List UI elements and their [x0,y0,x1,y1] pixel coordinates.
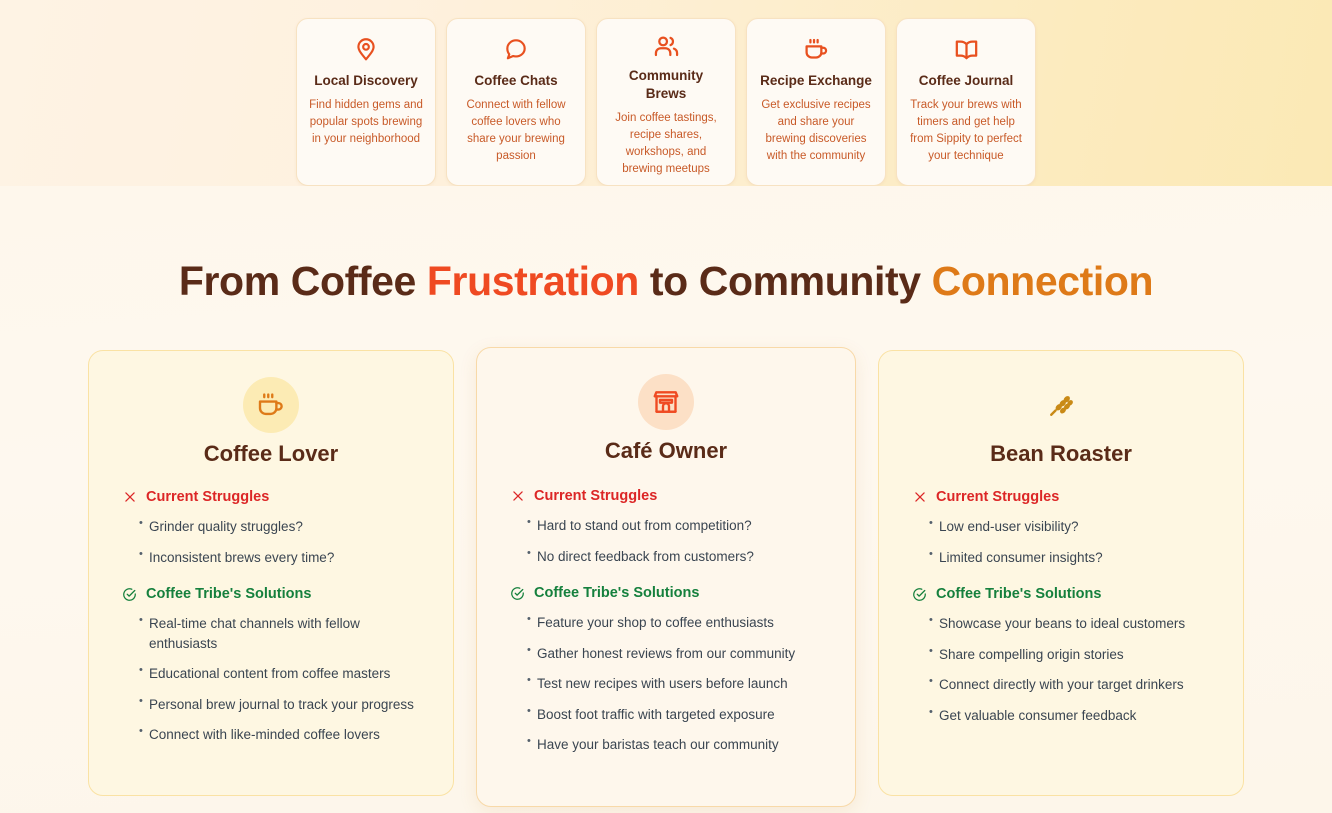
solutions-list: Showcase your beans to ideal customers S… [903,614,1219,725]
persona-title: Bean Roaster [903,441,1219,467]
struggles-block: Current Struggles Hard to stand out from… [501,488,831,566]
solutions-label: Coffee Tribe's Solutions [146,586,311,602]
list-item: Connect with like-minded coffee lovers [139,725,429,745]
list-item: Low end-user visibility? [929,517,1219,537]
struggles-heading: Current Struggles [501,488,831,504]
headline-part-4: Connection [932,258,1153,304]
feature-card-community-brews[interactable]: Community Brews Join coffee tastings, re… [596,18,736,186]
solutions-label: Coffee Tribe's Solutions [936,586,1101,602]
struggles-label: Current Struggles [146,489,269,505]
solutions-list: Real-time chat channels with fellow enth… [113,614,429,745]
struggles-heading: Current Struggles [903,489,1219,505]
solutions-block: Coffee Tribe's Solutions Showcase your b… [903,586,1219,725]
list-item: Get valuable consumer feedback [929,706,1219,726]
list-item: Real-time chat channels with fellow enth… [139,614,429,653]
list-item: Limited consumer insights? [929,548,1219,568]
feature-description: Join coffee tastings, recipe shares, wor… [607,110,725,178]
struggles-label: Current Struggles [936,489,1059,505]
comparison-section: From Coffee Frustration to Community Con… [0,186,1332,813]
feature-title: Coffee Chats [474,72,557,90]
x-icon [912,490,927,505]
list-item: Personal brew journal to track your prog… [139,695,429,715]
page-title: From Coffee Frustration to Community Con… [0,186,1332,305]
persona-card-coffee-lover[interactable]: Coffee Lover Current Struggles Grinder q… [88,350,454,796]
list-item: Gather honest reviews from our community [527,644,831,664]
struggles-block: Current Struggles Grinder quality strugg… [113,489,429,567]
persona-icon-wrap [903,377,1219,433]
solutions-block: Coffee Tribe's Solutions Real-time chat … [113,586,429,745]
open-book-icon [953,33,980,65]
list-item: Have your baristas teach our community [527,735,831,755]
struggles-label: Current Struggles [534,488,657,504]
headline-part-3: to Community [639,258,932,304]
persona-card-cafe-owner[interactable]: Café Owner Current Struggles Hard to sta… [476,347,856,807]
list-item: Feature your shop to coffee enthusiasts [527,613,831,633]
list-item: Grinder quality struggles? [139,517,429,537]
headline-part-2: Frustration [427,258,639,304]
feature-title: Recipe Exchange [760,72,872,90]
list-item: Showcase your beans to ideal customers [929,614,1219,634]
feature-title: Coffee Journal [919,72,1014,90]
list-item: No direct feedback from customers? [527,547,831,567]
feature-card-coffee-journal[interactable]: Coffee Journal Track your brews with tim… [896,18,1036,186]
solutions-block: Coffee Tribe's Solutions Feature your sh… [501,585,831,755]
x-icon [510,489,525,504]
solutions-list: Feature your shop to coffee enthusiasts … [501,613,831,755]
feature-card-recipe-exchange[interactable]: Recipe Exchange Get exclusive recipes an… [746,18,886,186]
feature-description: Get exclusive recipes and share your bre… [757,97,875,165]
list-item: Boost foot traffic with targeted exposur… [527,705,831,725]
struggles-block: Current Struggles Low end-user visibilit… [903,489,1219,567]
check-circle-icon [912,587,927,602]
persona-card-bean-roaster[interactable]: Bean Roaster Current Struggles Low end-u… [878,350,1244,796]
persona-icon-wrap [113,377,429,433]
persona-title: Coffee Lover [113,441,429,467]
map-pin-icon [353,33,379,65]
solutions-label: Coffee Tribe's Solutions [534,585,699,601]
headline-part-1: From Coffee [179,258,427,304]
wheat-grain-icon [1033,377,1089,433]
check-circle-icon [510,586,525,601]
solutions-heading: Coffee Tribe's Solutions [903,586,1219,602]
x-icon [122,490,137,505]
feature-description: Connect with fellow coffee lovers who sh… [457,97,575,165]
list-item: Connect directly with your target drinke… [929,675,1219,695]
list-item: Inconsistent brews every time? [139,548,429,568]
persona-card-row: Coffee Lover Current Struggles Grinder q… [0,347,1332,807]
chat-bubble-icon [503,33,529,65]
feature-title: Local Discovery [314,72,418,90]
coffee-cup-icon [803,33,830,65]
feature-card-strip: Local Discovery Find hidden gems and pop… [0,0,1332,186]
list-item: Test new recipes with users before launc… [527,674,831,694]
feature-description: Track your brews with timers and get hel… [907,97,1025,165]
feature-card-coffee-chats[interactable]: Coffee Chats Connect with fellow coffee … [446,18,586,186]
struggles-list: Low end-user visibility? Limited consume… [903,517,1219,567]
storefront-icon [638,374,694,430]
list-item: Hard to stand out from competition? [527,516,831,536]
feature-description: Find hidden gems and popular spots brewi… [307,97,425,148]
check-circle-icon [122,587,137,602]
solutions-heading: Coffee Tribe's Solutions [113,586,429,602]
persona-title: Café Owner [501,438,831,464]
solutions-heading: Coffee Tribe's Solutions [501,585,831,601]
list-item: Educational content from coffee masters [139,664,429,684]
list-item: Share compelling origin stories [929,645,1219,665]
feature-card-local-discovery[interactable]: Local Discovery Find hidden gems and pop… [296,18,436,186]
users-icon [653,33,680,60]
feature-title: Community Brews [607,67,725,103]
struggles-heading: Current Struggles [113,489,429,505]
struggles-list: Hard to stand out from competition? No d… [501,516,831,566]
struggles-list: Grinder quality struggles? Inconsistent … [113,517,429,567]
coffee-cup-icon [243,377,299,433]
persona-icon-wrap [501,374,831,430]
